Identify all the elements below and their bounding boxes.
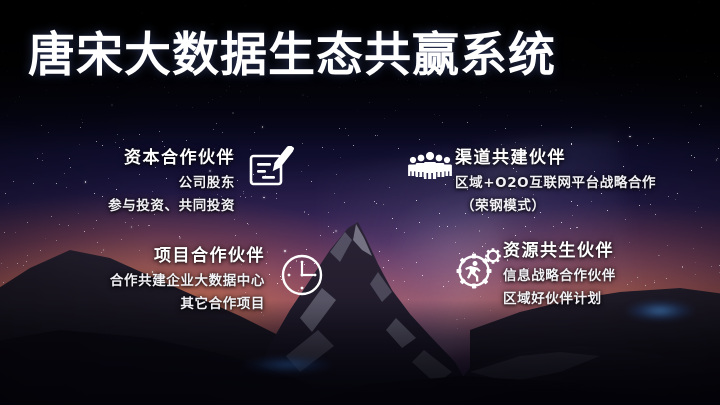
partner-title: 项目合作伙伴 — [85, 241, 265, 266]
partner-block-channel: 渠道共建伙伴 区域+O2O互联网平台战略合作 （荣钢模式） — [455, 143, 695, 214]
contract-pen-icon — [248, 146, 294, 190]
partner-title: 资源共生伙伴 — [503, 236, 713, 261]
partner-line: 区域好伙伴计划 — [503, 287, 713, 307]
partner-title: 资本合作伙伴 — [60, 143, 235, 168]
partner-line: （荣钢模式） — [455, 194, 695, 214]
blue-light-glow — [228, 352, 348, 378]
partner-line: 合作共建企业大数据中心 — [85, 269, 265, 289]
clock-icon — [280, 253, 324, 297]
partner-line: 区域+O2O互联网平台战略合作 — [455, 171, 695, 191]
partner-block-project: 项目合作伙伴 合作共建企业大数据中心 其它合作项目 — [85, 241, 265, 312]
gear-runner-icon — [452, 243, 504, 293]
partner-line: 参与投资、共同投资 — [60, 194, 235, 214]
partner-line: 其它合作项目 — [85, 292, 265, 312]
partner-block-resource: 资源共生伙伴 信息战略合作伙伴 区域好伙伴计划 — [503, 236, 713, 307]
partner-line: 信息战略合作伙伴 — [503, 264, 713, 284]
people-group-icon — [408, 150, 452, 182]
partner-title: 渠道共建伙伴 — [455, 143, 695, 168]
partner-line: 公司股东 — [60, 171, 235, 191]
slide-title: 唐宋大数据生态共赢系统 — [28, 28, 648, 83]
partner-block-capital: 资本合作伙伴 公司股东 参与投资、共同投资 — [60, 143, 235, 214]
presentation-slide: 唐宋大数据生态共赢系统 资本合作伙伴 公司股东 参与投资、共同投资 渠道共建伙伴… — [0, 0, 720, 405]
